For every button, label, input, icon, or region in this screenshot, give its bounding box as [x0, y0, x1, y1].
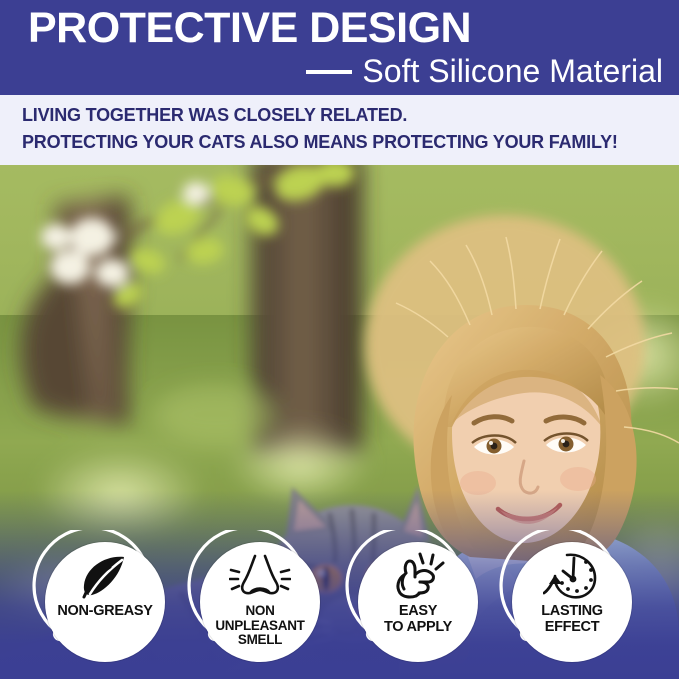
snapping-fingers-icon: [358, 550, 478, 602]
badge-label: NON UNPLEASANT SMELL: [191, 604, 329, 648]
feature-badge-easy-to-apply[interactable]: EASY TO APPLY: [343, 530, 493, 675]
subtitle-group: Soft Silicone Material: [306, 53, 663, 90]
feature-badge-lasting-effect[interactable]: LASTING EFFECT: [497, 530, 647, 675]
header-band: PROTECTIVE DESIGN Soft Silicone Material: [0, 0, 679, 95]
em-dash-rule-icon: [306, 70, 352, 74]
leaf-icon: [45, 550, 165, 602]
badge-label: EASY TO APPLY: [349, 604, 487, 635]
product-feature-banner: PROTECTIVE DESIGN Soft Silicone Material…: [0, 0, 679, 679]
subheader-band: LIVING TOGETHER WAS CLOSELY RELATED. PRO…: [0, 95, 679, 165]
clock-arrow-icon: [512, 550, 632, 602]
badge-label: NON-GREASY: [36, 604, 174, 620]
feature-badge-non-greasy[interactable]: NON-GREASY: [30, 530, 180, 675]
subheader-line-2: PROTECTING YOUR CATS ALSO MEANS PROTECTI…: [22, 132, 618, 153]
feature-badge-row: NON-GREASY: [0, 530, 679, 679]
subheader-line-1: LIVING TOGETHER WAS CLOSELY RELATED.: [22, 105, 407, 126]
feature-badge-non-unpleasant-smell[interactable]: NON UNPLEASANT SMELL: [185, 530, 335, 675]
page-title: PROTECTIVE DESIGN: [28, 6, 471, 51]
badge-label: LASTING EFFECT: [503, 604, 641, 635]
nose-icon: [200, 550, 320, 602]
page-subtitle: Soft Silicone Material: [362, 53, 663, 90]
